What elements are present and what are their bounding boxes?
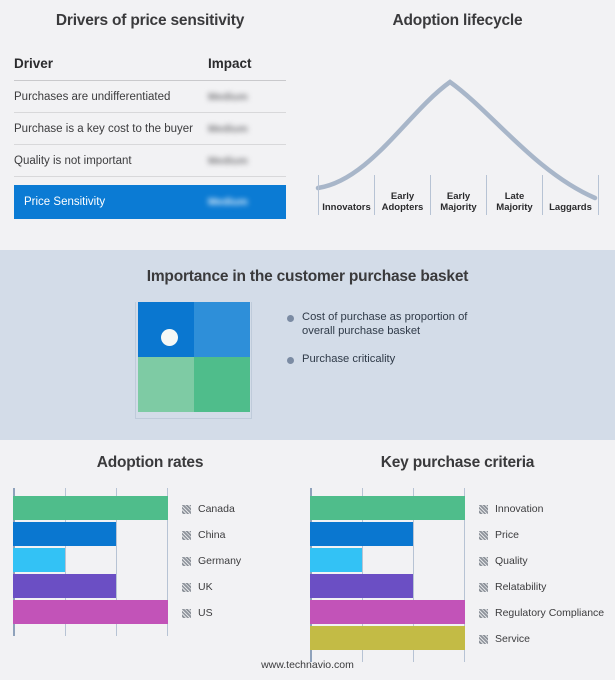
impact-value-redacted: Medium	[208, 123, 248, 135]
legend-item-us: US	[182, 600, 241, 626]
bar-slot	[310, 522, 465, 546]
purchase-criteria-legend: Innovation Price Quality Relatability	[479, 488, 604, 662]
cell-impact-highlighted: Medium	[208, 185, 286, 219]
bars-container	[310, 488, 465, 662]
hatched-swatch-icon	[182, 583, 191, 592]
bar-slot	[310, 574, 465, 598]
drivers-table: Driver Impact Purchases are undifferenti…	[14, 56, 286, 219]
adoption-rates-panel: Adoption rates	[0, 440, 300, 662]
table-spacer-row	[14, 177, 286, 186]
hatched-swatch-icon	[182, 531, 191, 540]
quadrant-top-right[interactable]	[194, 302, 250, 357]
bar-slot	[13, 522, 168, 546]
legend-label: Germany	[198, 555, 241, 567]
hatched-swatch-icon	[479, 609, 488, 618]
bullet-dot-icon	[287, 315, 294, 322]
bar-china[interactable]	[13, 522, 116, 546]
purchase-basket-section: Importance in the customer purchase bask…	[0, 250, 615, 440]
impact-value-redacted: Medium	[208, 91, 248, 103]
bar-slot	[310, 496, 465, 520]
purchase-criteria-chart: Innovation Price Quality Relatability	[300, 488, 615, 662]
cell-impact: Medium	[208, 81, 286, 113]
hatched-swatch-icon	[479, 505, 488, 514]
cell-driver: Quality is not important	[14, 145, 208, 177]
lifecycle-stage-laggards: Laggards	[542, 175, 599, 215]
legend-label: Canada	[198, 503, 235, 515]
table-row[interactable]: Purchase is a key cost to the buyer Medi…	[14, 113, 286, 145]
footer-url[interactable]: www.technavio.com	[0, 659, 615, 671]
bottom-section: Adoption rates	[0, 440, 615, 680]
impact-value-redacted: Medium	[208, 155, 248, 167]
table-row-highlighted[interactable]: Price Sensitivity Medium	[14, 185, 286, 219]
lifecycle-stage-label: Innovators	[322, 202, 371, 213]
legend-item-china: China	[182, 522, 241, 548]
hatched-swatch-icon	[479, 531, 488, 540]
purchase-criteria-title: Key purchase criteria	[300, 440, 615, 472]
drivers-panel: Drivers of price sensitivity Driver Impa…	[0, 0, 300, 219]
lifecycle-stage-label: Early Majority	[431, 191, 486, 213]
bar-slot	[13, 600, 168, 624]
bullet-dot-icon	[287, 357, 294, 364]
column-header-driver: Driver	[14, 56, 208, 81]
purchase-basket-title: Importance in the customer purchase bask…	[0, 250, 615, 286]
purchase-criteria-panel: Key purchase criteria	[300, 440, 615, 662]
cell-impact: Medium	[208, 145, 286, 177]
cell-impact: Medium	[208, 113, 286, 145]
bar-slot	[13, 548, 168, 572]
adoption-rates-chart: Canada China Germany UK	[0, 488, 300, 636]
cell-driver: Purchase is a key cost to the buyer	[14, 113, 208, 145]
lifecycle-chart: Innovators Early Adopters Early Majority…	[310, 50, 603, 215]
legend-item-germany: Germany	[182, 548, 241, 574]
legend-item: Purchase criticality	[287, 352, 502, 366]
hatched-swatch-icon	[182, 557, 191, 566]
cell-driver: Purchases are undifferentiated	[14, 81, 208, 113]
bar-slot	[310, 626, 465, 650]
purchase-basket-legend: Cost of purchase as proportion of overal…	[287, 302, 502, 419]
legend-label: UK	[198, 581, 213, 593]
bar-service[interactable]	[310, 626, 465, 650]
legend-item-price: Price	[479, 522, 604, 548]
hatched-swatch-icon	[479, 635, 488, 644]
lifecycle-stage-axis: Innovators Early Adopters Early Majority…	[318, 175, 599, 215]
legend-item-canada: Canada	[182, 496, 241, 522]
top-section: Drivers of price sensitivity Driver Impa…	[0, 0, 615, 250]
legend-item-quality: Quality	[479, 548, 604, 574]
legend-item-label: Purchase criticality	[302, 352, 395, 366]
table-row[interactable]: Quality is not important Medium	[14, 145, 286, 177]
purchase-criteria-plot	[310, 488, 465, 662]
impact-value-redacted: Medium	[208, 196, 248, 208]
table-header-row: Driver Impact	[14, 56, 286, 81]
hatched-swatch-icon	[479, 557, 488, 566]
bar-slot	[310, 548, 465, 572]
legend-label: Service	[495, 633, 530, 645]
position-marker-dot	[161, 329, 178, 346]
hatched-swatch-icon	[182, 609, 191, 618]
drivers-table-wrap: Driver Impact Purchases are undifferenti…	[14, 56, 286, 219]
bar-quality[interactable]	[310, 548, 362, 572]
legend-label: Innovation	[495, 503, 543, 515]
bar-slot	[310, 600, 465, 624]
lifecycle-panel: Adoption lifecycle Innovators Early Adop…	[300, 0, 615, 219]
lifecycle-stage-late-majority: Late Majority	[486, 175, 542, 215]
adoption-rates-legend: Canada China Germany UK	[182, 488, 241, 636]
bar-slot	[13, 496, 168, 520]
legend-label: Quality	[495, 555, 528, 567]
legend-item-label: Cost of purchase as proportion of overal…	[302, 310, 502, 338]
legend-item: Cost of purchase as proportion of overal…	[287, 310, 502, 338]
bar-slot	[13, 574, 168, 598]
bar-innovation[interactable]	[310, 496, 465, 520]
hatched-swatch-icon	[182, 505, 191, 514]
legend-item-service: Service	[479, 626, 604, 652]
lifecycle-title: Adoption lifecycle	[300, 0, 615, 30]
purchase-basket-body: Cost of purchase as proportion of overal…	[0, 302, 615, 419]
lifecycle-stage-label: Early Adopters	[375, 191, 430, 213]
lifecycle-stage-innovators: Innovators	[318, 175, 374, 215]
lifecycle-stage-label: Late Majority	[487, 191, 542, 213]
quadrant-matrix	[138, 302, 250, 412]
bar-germany[interactable]	[13, 548, 65, 572]
bar-us[interactable]	[13, 600, 168, 624]
quadrant-bottom-right[interactable]	[194, 357, 250, 412]
hatched-swatch-icon	[479, 583, 488, 592]
legend-label: Relatability	[495, 581, 546, 593]
legend-label: Price	[495, 529, 519, 541]
bar-price[interactable]	[310, 522, 413, 546]
cell-driver-highlighted: Price Sensitivity	[14, 185, 208, 219]
drivers-title: Drivers of price sensitivity	[0, 0, 300, 30]
table-row[interactable]: Purchases are undifferentiated Medium	[14, 81, 286, 113]
bar-canada[interactable]	[13, 496, 168, 520]
bar-relatability[interactable]	[310, 574, 413, 598]
legend-item-uk: UK	[182, 574, 241, 600]
bars-container	[13, 488, 168, 636]
lifecycle-stage-early-majority: Early Majority	[430, 175, 486, 215]
legend-item-relatability: Relatability	[479, 574, 604, 600]
adoption-rates-title: Adoption rates	[0, 440, 300, 472]
adoption-rates-plot	[13, 488, 168, 636]
legend-item-regulatory-compliance: Regulatory Compliance	[479, 600, 604, 626]
legend-item-innovation: Innovation	[479, 496, 604, 522]
matrix-frame	[135, 302, 252, 419]
legend-label: Regulatory Compliance	[495, 607, 604, 619]
column-header-impact: Impact	[208, 56, 286, 81]
quadrant-bottom-left[interactable]	[138, 357, 194, 412]
lifecycle-stage-early-adopters: Early Adopters	[374, 175, 430, 215]
legend-label: China	[198, 529, 225, 541]
bar-regulatory-compliance[interactable]	[310, 600, 465, 624]
legend-label: US	[198, 607, 213, 619]
lifecycle-stage-label: Laggards	[549, 202, 592, 213]
bar-uk[interactable]	[13, 574, 116, 598]
